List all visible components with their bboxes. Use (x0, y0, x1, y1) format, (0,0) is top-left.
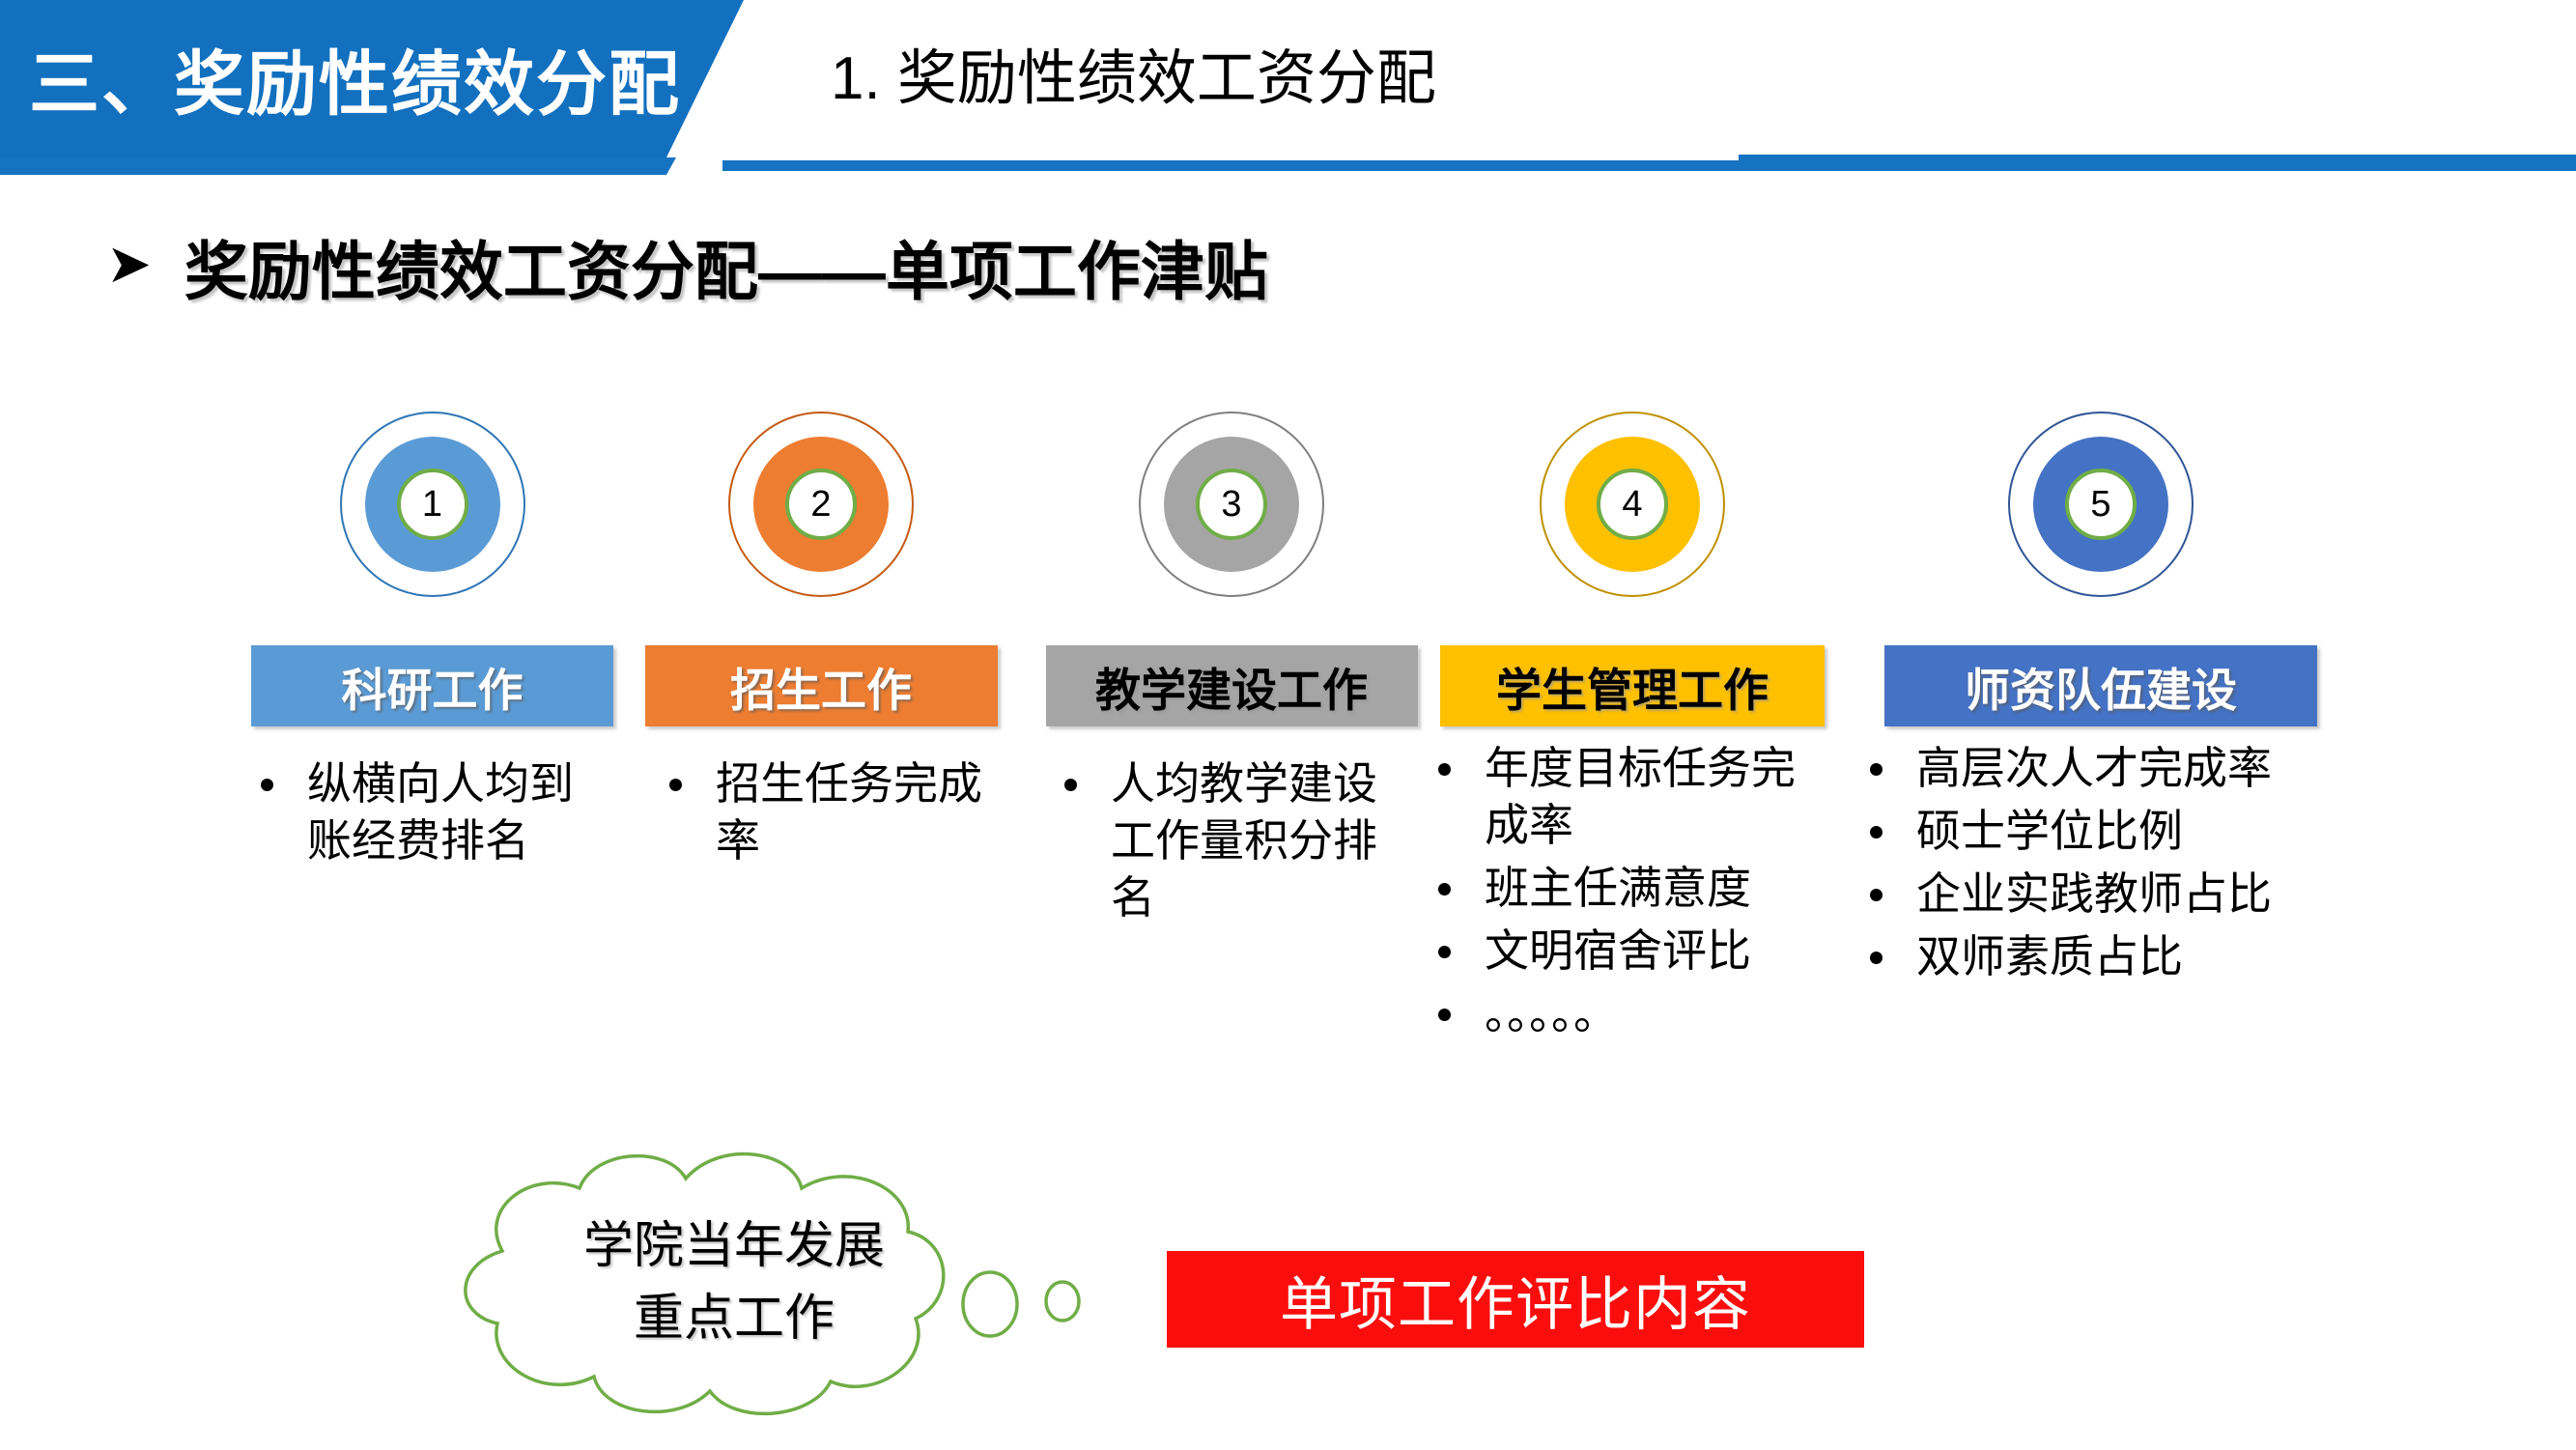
badge-number-5: 5 (2065, 469, 2137, 540)
slide-header: 三、奖励性绩效分配 1. 奖励性绩效工资分配 (0, 0, 2576, 179)
slide-canvas: 三、奖励性绩效分配 1. 奖励性绩效工资分配 ➤ 奖励性绩效工资分配——单项工作… (0, 0, 2576, 1450)
badge-number-3: 3 (1196, 469, 1267, 540)
cloud-callout: 学院当年发展 重点工作 (386, 1135, 1256, 1435)
header-section-title: 三、奖励性绩效分配 (29, 15, 705, 141)
arrow-bullet-icon: ➤ (106, 237, 152, 291)
category-items-5: 高层次人才完成率 硕士学位比例 企业实践教师占比 双师素质占比 (1856, 740, 2359, 985)
category-column-3: 3 教学建设工作 人均教学建设工作量积分排名 (1043, 406, 1420, 932)
category-label-3: 教学建设工作 (1046, 645, 1418, 726)
list-item: 高层次人才完成率 (1856, 740, 2359, 797)
step-badge-3: 3 (1135, 406, 1328, 609)
list-item: 硕士学位比例 (1856, 803, 2359, 860)
category-label-1: 科研工作 (251, 645, 613, 726)
cloud-line-1: 学院当年发展 (531, 1210, 937, 1283)
cloud-callout-text: 学院当年发展 重点工作 (531, 1210, 937, 1356)
step-badge-1: 1 (336, 406, 529, 609)
cloud-line-2: 重点工作 (531, 1283, 937, 1355)
list-item: 纵横向人均到账经费排名 (247, 755, 609, 869)
category-items-2: 招生任务完成率 (656, 755, 1008, 869)
category-items-1: 纵横向人均到账经费排名 (247, 755, 609, 869)
badge-number-2: 2 (785, 469, 857, 540)
category-column-5: 5 师资队伍建设 高层次人才完成率 硕士学位比例 企业实践教师占比 双师素质占比 (1864, 406, 2337, 991)
category-label-5: 师资队伍建设 (1884, 645, 2317, 726)
list-item: 企业实践教师占比 (1856, 866, 2359, 923)
category-label-2: 招生工作 (645, 645, 998, 726)
list-item: 招生任务完成率 (656, 755, 1008, 869)
header-subsection-title: 1. 奖励性绩效工资分配 (831, 29, 1436, 116)
category-column-1: 1 科研工作 纵横向人均到账经费排名 (241, 406, 623, 875)
category-label-4: 学生管理工作 (1440, 645, 1825, 726)
header-blue-underbar (0, 157, 676, 175)
evaluation-content-banner: 单项工作评比内容 (1167, 1251, 1864, 1348)
step-badge-4: 4 (1536, 406, 1729, 609)
badge-number-1: 1 (397, 469, 468, 540)
badge-number-4: 4 (1597, 469, 1668, 540)
list-item: 班主任满意度 (1425, 860, 1811, 917)
content-subheading-text: 奖励性绩效工资分配——单项工作津贴 (184, 220, 1268, 313)
category-items-4: 年度目标任务完成率 班主任满意度 文明宿舍评比 。。。。。 (1425, 740, 1811, 1041)
list-item: 人均教学建设工作量积分排名 (1051, 755, 1418, 926)
step-badge-2: 2 (724, 406, 918, 609)
category-column-2: 2 招生工作 招生任务完成率 (642, 406, 1000, 875)
step-badge-5: 5 (2004, 406, 2197, 609)
category-column-4: 4 学生管理工作 年度目标任务完成率 班主任满意度 文明宿舍评比 。。。。。 (1439, 406, 1826, 1047)
list-item: 年度目标任务完成率 (1425, 740, 1811, 854)
category-items-3: 人均教学建设工作量积分排名 (1051, 755, 1418, 926)
list-item: 双师素质占比 (1856, 928, 2359, 985)
list-item: 文明宿舍评比 (1425, 923, 1811, 980)
header-rule-secondary (1739, 155, 2576, 162)
list-item: 。。。。。 (1425, 985, 1811, 1042)
content-subheading: ➤ 奖励性绩效工资分配——单项工作津贴 (106, 220, 1268, 313)
